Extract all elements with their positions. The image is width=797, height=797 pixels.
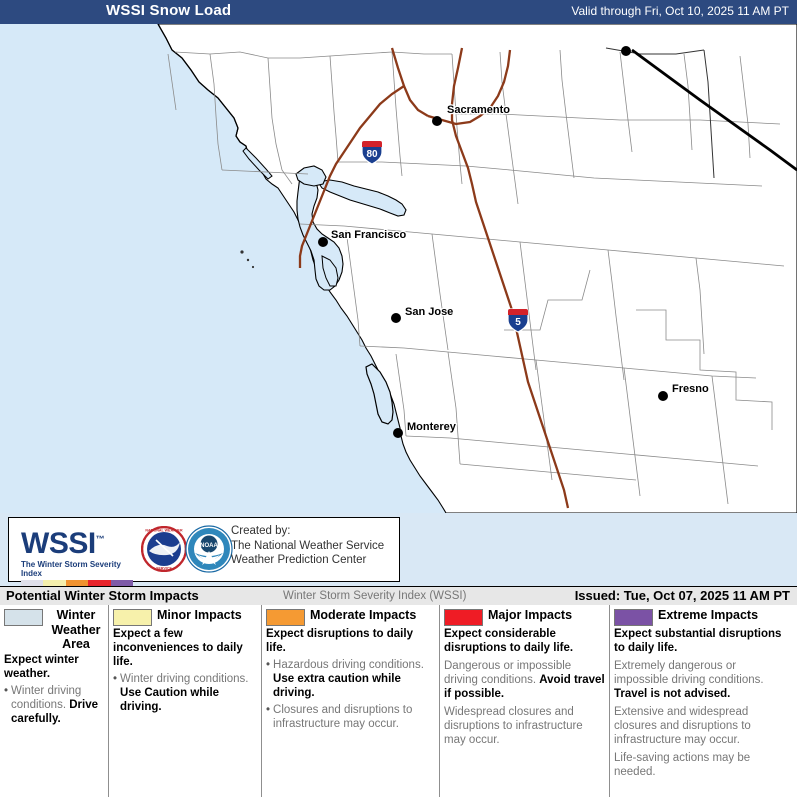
valid-through-text: Valid through Fri, Oct 10, 2025 11 AM PT	[571, 4, 789, 18]
legend-lead-winter-weather-area: Expect winter weather.	[4, 653, 104, 681]
bullet-marker-icon: •	[4, 684, 8, 726]
created-by-line3: Weather Prediction Center	[231, 553, 384, 568]
island-dot	[240, 250, 243, 253]
svg-text:5: 5	[515, 317, 521, 328]
credit-strip: WSSI™ The Winter Storm Severity Index NA…	[0, 513, 797, 586]
legend-header-minor-impacts: Minor Impacts	[113, 608, 257, 626]
legend-lead-extreme-impacts: Expect substantial disruptions to daily …	[614, 627, 793, 655]
national-weather-service-seal: NATIONAL WEATHER SERVICE	[141, 526, 187, 572]
legend-title-moderate-impacts: Moderate Impacts	[310, 608, 416, 623]
legend-body-major-impacts: Expect considerable disruptions to daily…	[444, 627, 605, 747]
legend-body-extreme-impacts: Expect substantial disruptions to daily …	[614, 627, 793, 779]
wssi-word-text: WSSI	[21, 527, 96, 560]
city-dot-sacramento	[432, 116, 442, 126]
legend-bullet-moderate-impacts-0: •Hazardous driving conditions. Use extra…	[266, 658, 435, 700]
legend-paragraph-extreme-impacts-0: Extremely dangerous or impossible drivin…	[614, 659, 793, 701]
legend-header-moderate-impacts: Moderate Impacts	[266, 608, 435, 626]
legend-column-major-impacts: Major ImpactsExpect considerable disrupt…	[440, 605, 610, 797]
issued-text: Issued: Tue, Oct 07, 2025 11 AM PT	[575, 588, 790, 603]
legend-bullet-text: Winter driving conditions. Use Caution w…	[120, 672, 257, 714]
city-label-san-jose: San Jose	[405, 306, 453, 318]
city-label-monterey: Monterey	[407, 421, 457, 433]
legend-swatch-winter-weather-area	[4, 609, 43, 626]
bullet-marker-icon: •	[113, 672, 117, 714]
city-dot-fresno	[658, 391, 668, 401]
legend-header-major-impacts: Major Impacts	[444, 608, 605, 626]
noaa-seal: NOAA	[185, 525, 233, 573]
legend-bullet-moderate-impacts-1: •Closures and disruptions to infrastruct…	[266, 703, 435, 731]
wssi-tagline: The Winter Storm Severity Index	[21, 560, 131, 578]
created-by-line1: Created by:	[231, 524, 384, 539]
city-dot-monterey	[393, 428, 403, 438]
legend-lead-minor-impacts: Expect a few inconveniences to daily lif…	[113, 627, 257, 669]
svg-text:SERVICE: SERVICE	[156, 567, 172, 571]
legend-swatch-minor-impacts	[113, 609, 152, 626]
legend-paragraph-extreme-impacts-2: Life-saving actions may be needed.	[614, 751, 793, 779]
svg-text:NATIONAL WEATHER: NATIONAL WEATHER	[145, 528, 183, 532]
legend-body-winter-weather-area: Expect winter weather.•Winter driving co…	[4, 653, 104, 726]
city-dot-san-jose	[391, 313, 401, 323]
legend-header-winter-weather-area: Winter Weather Area	[4, 608, 104, 652]
svg-text:80: 80	[366, 149, 378, 160]
legend-paragraph-major-impacts-0: Dangerous or impossible driving conditio…	[444, 659, 605, 701]
impacts-bar-title: Potential Winter Storm Impacts	[6, 588, 199, 603]
wssi-wordmark: WSSI™	[21, 524, 131, 559]
legend-lead-major-impacts: Expect considerable disruptions to daily…	[444, 627, 605, 655]
wssi-trademark: ™	[96, 534, 105, 544]
impacts-bar: Potential Winter Storm Impacts Winter St…	[0, 586, 797, 607]
legend-bullet-text: Closures and disruptions to infrastructu…	[273, 703, 435, 731]
city-label-fresno: Fresno	[672, 383, 709, 395]
impacts-bar-subtitle: Winter Storm Severity Index (WSSI)	[283, 590, 466, 602]
header-bar: WSSI Snow Load Valid through Fri, Oct 10…	[0, 0, 797, 25]
created-by-block: Created by: The National Weather Service…	[231, 524, 384, 568]
legend-title-major-impacts: Major Impacts	[488, 608, 572, 623]
legend-bullet-minor-impacts-0: •Winter driving conditions. Use Caution …	[113, 672, 257, 714]
bullet-marker-icon: •	[266, 658, 270, 700]
legend-column-minor-impacts: Minor ImpactsExpect a few inconveniences…	[109, 605, 262, 797]
legend-title-minor-impacts: Minor Impacts	[157, 608, 242, 623]
legend-column-extreme-impacts: Extreme ImpactsExpect substantial disrup…	[610, 605, 797, 797]
island-dot	[252, 266, 254, 268]
legend-bullet-text: Hazardous driving conditions. Use extra …	[273, 658, 435, 700]
created-by-line2: The National Weather Service	[231, 539, 384, 554]
wssi-snow-load-page: WSSI Snow Load Valid through Fri, Oct 10…	[0, 0, 797, 797]
bullet-marker-icon: •	[266, 703, 270, 731]
legend-paragraph-major-impacts-1: Widespread closures and disruptions to i…	[444, 705, 605, 747]
legend-paragraph-extreme-impacts-1: Extensive and widespread closures and di…	[614, 705, 793, 747]
wssi-logo: WSSI™ The Winter Storm Severity Index	[21, 524, 131, 587]
legend-title-winter-weather-area: Winter Weather Area	[48, 608, 104, 652]
legend-swatch-major-impacts	[444, 609, 483, 626]
legend-body-moderate-impacts: Expect disruptions to daily life.•Hazard…	[266, 627, 435, 731]
svg-text:NOAA: NOAA	[200, 543, 218, 549]
city-dot-unlabeled	[621, 46, 631, 56]
legend-body-minor-impacts: Expect a few inconveniences to daily lif…	[113, 627, 257, 714]
legend-title-extreme-impacts: Extreme Impacts	[658, 608, 758, 623]
page-title: WSSI Snow Load	[106, 2, 231, 19]
legend-lead-moderate-impacts: Expect disruptions to daily life.	[266, 627, 435, 655]
city-dot-san-francisco	[318, 237, 328, 247]
legend-bullet-winter-weather-area-0: •Winter driving conditions. Drive carefu…	[4, 684, 104, 726]
legend-header-extreme-impacts: Extreme Impacts	[614, 608, 793, 626]
credit-box: WSSI™ The Winter Storm Severity Index NA…	[8, 517, 400, 582]
legend-column-moderate-impacts: Moderate ImpactsExpect disruptions to da…	[262, 605, 440, 797]
legend-swatch-extreme-impacts	[614, 609, 653, 626]
map-svg: 80 5 Sacramento San Francisco San Jose M…	[0, 24, 797, 513]
city-label-sacramento: Sacramento	[447, 104, 510, 116]
island-dot	[247, 259, 249, 261]
legend-swatch-moderate-impacts	[266, 609, 305, 626]
impacts-legend: Winter Weather AreaExpect winter weather…	[0, 605, 797, 797]
legend-bullet-text: Winter driving conditions. Drive careful…	[11, 684, 104, 726]
map-canvas[interactable]: 80 5 Sacramento San Francisco San Jose M…	[0, 24, 797, 513]
legend-column-winter-weather-area: Winter Weather AreaExpect winter weather…	[0, 605, 109, 797]
city-label-san-francisco: San Francisco	[331, 229, 406, 241]
